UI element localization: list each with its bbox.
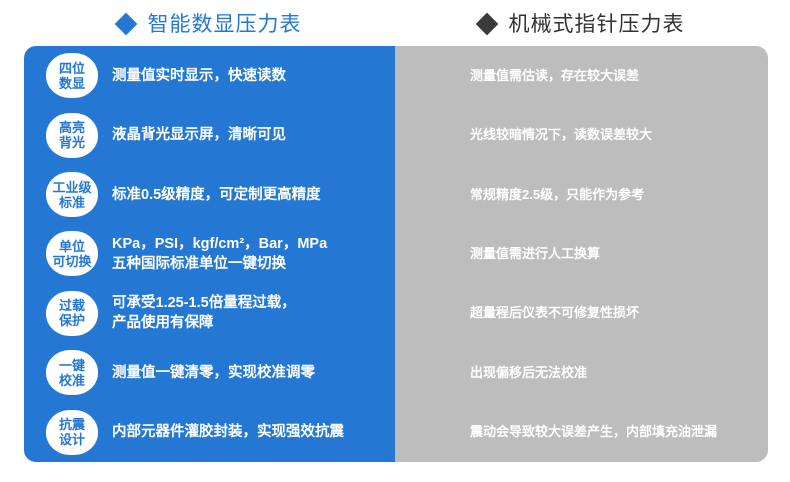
list-item: 光线较暗情况下，读数误差较大 (395, 105, 768, 164)
features-list: 四位 数显 测量值实时显示，快速读数 高亮 背光 液晶背光显示屏，清晰可见 工业… (24, 46, 395, 462)
list-item: 工业级 标准 标准0.5级精度，可定制更高精度 (24, 165, 395, 224)
feature-badge: 四位 数显 (46, 53, 98, 98)
drawbacks-list: 测量值需估读，存在较大误差 光线较暗情况下，读数误差较大 常规精度2.5级，只能… (395, 46, 768, 462)
feature-text: 可承受1.25-1.5倍量程过载， 产品使用有保障 (112, 293, 296, 333)
list-item: 震动会导致较大误差产生，内部填充油泄漏 (395, 403, 768, 462)
feature-badge: 过载 保护 (46, 291, 98, 336)
feature-text: 测量值一键清零，实现校准调零 (112, 363, 315, 383)
badge-line-2: 数显 (59, 76, 85, 91)
header-right: 机械式指针压力表 (395, 0, 768, 46)
drawbacks-panel: 测量值需估读，存在较大误差 光线较暗情况下，读数误差较大 常规精度2.5级，只能… (395, 46, 768, 462)
list-item: 超量程后仪表不可修复性损坏 (395, 284, 768, 343)
feature-text: 标准0.5级精度，可定制更高精度 (112, 185, 321, 205)
diamond-icon (114, 13, 137, 36)
page-title-left: 智能数显压力表 (148, 8, 302, 38)
badge-line-2: 可切换 (52, 254, 91, 269)
drawback-text: 光线较暗情况下，读数误差较大 (470, 126, 652, 144)
feature-badge: 单位 可切换 (46, 231, 98, 276)
drawback-text: 测量值需估读，存在较大误差 (470, 67, 639, 85)
feature-badge: 一键 校准 (46, 350, 98, 395)
badge-line-1: 工业级 (52, 180, 91, 195)
badge-line-1: 单位 (59, 239, 85, 254)
list-item: 出现偏移后无法校准 (395, 343, 768, 402)
badge-line-1: 抗震 (59, 417, 85, 432)
badge-line-2: 校准 (59, 373, 85, 388)
drawback-text: 超量程后仪表不可修复性损坏 (470, 304, 639, 322)
badge-line-2: 背光 (59, 135, 85, 150)
badge-line-2: 标准 (59, 195, 85, 210)
list-item: 四位 数显 测量值实时显示，快速读数 (24, 46, 395, 105)
diamond-icon (475, 13, 498, 36)
list-item: 一键 校准 测量值一键清零，实现校准调零 (24, 343, 395, 402)
drawback-text: 出现偏移后无法校准 (470, 364, 587, 382)
feature-text: 内部元器件灌胶封装，实现强效抗震 (112, 422, 344, 442)
page-title-right: 机械式指针压力表 (509, 8, 685, 38)
list-item: 单位 可切换 KPa，PSI，kgf/cm²，Bar，MPa 五种国际标准单位一… (24, 224, 395, 283)
badge-line-1: 四位 (59, 61, 85, 76)
comparison-headers: 智能数显压力表 机械式指针压力表 (0, 0, 790, 46)
drawback-text: 测量值需进行人工换算 (470, 245, 600, 263)
drawback-text: 震动会导致较大误差产生，内部填充油泄漏 (470, 423, 717, 441)
feature-text: 测量值实时显示，快速读数 (112, 66, 286, 86)
drawback-text: 常规精度2.5级，只能作为参考 (470, 186, 644, 204)
list-item: 过载 保护 可承受1.25-1.5倍量程过载， 产品使用有保障 (24, 284, 395, 343)
feature-badge: 高亮 背光 (46, 113, 98, 158)
header-left: 智能数显压力表 (24, 0, 395, 46)
badge-line-1: 一键 (59, 358, 85, 373)
list-item: 测量值需进行人工换算 (395, 224, 768, 283)
feature-badge: 工业级 标准 (46, 172, 98, 217)
features-panel: 四位 数显 测量值实时显示，快速读数 高亮 背光 液晶背光显示屏，清晰可见 工业… (24, 46, 395, 462)
badge-line-1: 高亮 (59, 120, 85, 135)
badge-line-1: 过载 (59, 298, 85, 313)
list-item: 常规精度2.5级，只能作为参考 (395, 165, 768, 224)
feature-badge: 抗震 设计 (46, 410, 98, 455)
badge-line-2: 设计 (59, 432, 85, 447)
list-item: 高亮 背光 液晶背光显示屏，清晰可见 (24, 105, 395, 164)
feature-text: KPa，PSI，kgf/cm²，Bar，MPa 五种国际标准单位一键切换 (112, 234, 327, 274)
list-item: 抗震 设计 内部元器件灌胶封装，实现强效抗震 (24, 403, 395, 462)
list-item: 测量值需估读，存在较大误差 (395, 46, 768, 105)
badge-line-2: 保护 (59, 313, 85, 328)
feature-text: 液晶背光显示屏，清晰可见 (112, 125, 286, 145)
